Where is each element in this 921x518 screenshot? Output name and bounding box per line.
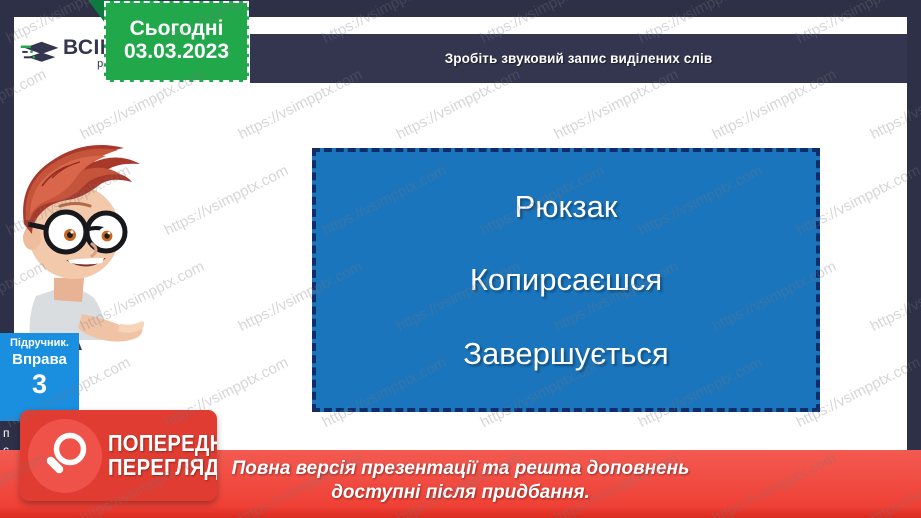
presentation-slide: ВСІМ pptx Сьогодні 03.03.2023 Зробіть зв… bbox=[0, 0, 921, 518]
exercise-reference-box: Підручник. Вправа 3 bbox=[0, 333, 79, 421]
banner-line-1: Повна версія презентації та решта доповн… bbox=[232, 457, 690, 481]
preview-line-2: ПЕРЕГЛЯД bbox=[108, 456, 217, 479]
word-item: Копирсаєшся bbox=[470, 264, 662, 295]
frame-right bbox=[907, 0, 921, 518]
preview-badge[interactable]: ПОПЕРЕДНІЙ ПЕРЕГЛЯД bbox=[20, 410, 217, 501]
today-date-badge: Сьогодні 03.03.2023 bbox=[104, 1, 249, 82]
preview-badge-text: ПОПЕРЕДНІЙ ПЕРЕГЛЯД bbox=[108, 432, 217, 479]
word-item: Рюкзак bbox=[515, 191, 618, 222]
banner-line-2: доступні після придбання. bbox=[331, 481, 590, 505]
exercise-word-label: Вправа bbox=[0, 350, 79, 370]
cartoon-boy-illustration bbox=[8, 128, 168, 358]
exercise-number: 3 bbox=[0, 370, 79, 398]
date-label: Сьогодні bbox=[130, 18, 224, 40]
date-value: 03.03.2023 bbox=[124, 40, 229, 64]
exercise-source-label: Підручник. bbox=[0, 337, 79, 350]
graduation-cap-icon bbox=[20, 37, 60, 71]
highlighted-words-panel: Рюкзак Копирсаєшся Завершується bbox=[312, 148, 820, 412]
slide-title: Зробіть звуковий запис виділених слів bbox=[445, 51, 712, 66]
preview-line-1: ПОПЕРЕДНІЙ bbox=[108, 432, 217, 455]
slide-title-bar: Зробіть звуковий запис виділених слів bbox=[250, 34, 907, 83]
magnifier-icon-circle bbox=[28, 419, 102, 493]
word-item: Завершується bbox=[463, 338, 668, 369]
magnifier-icon bbox=[37, 428, 93, 484]
